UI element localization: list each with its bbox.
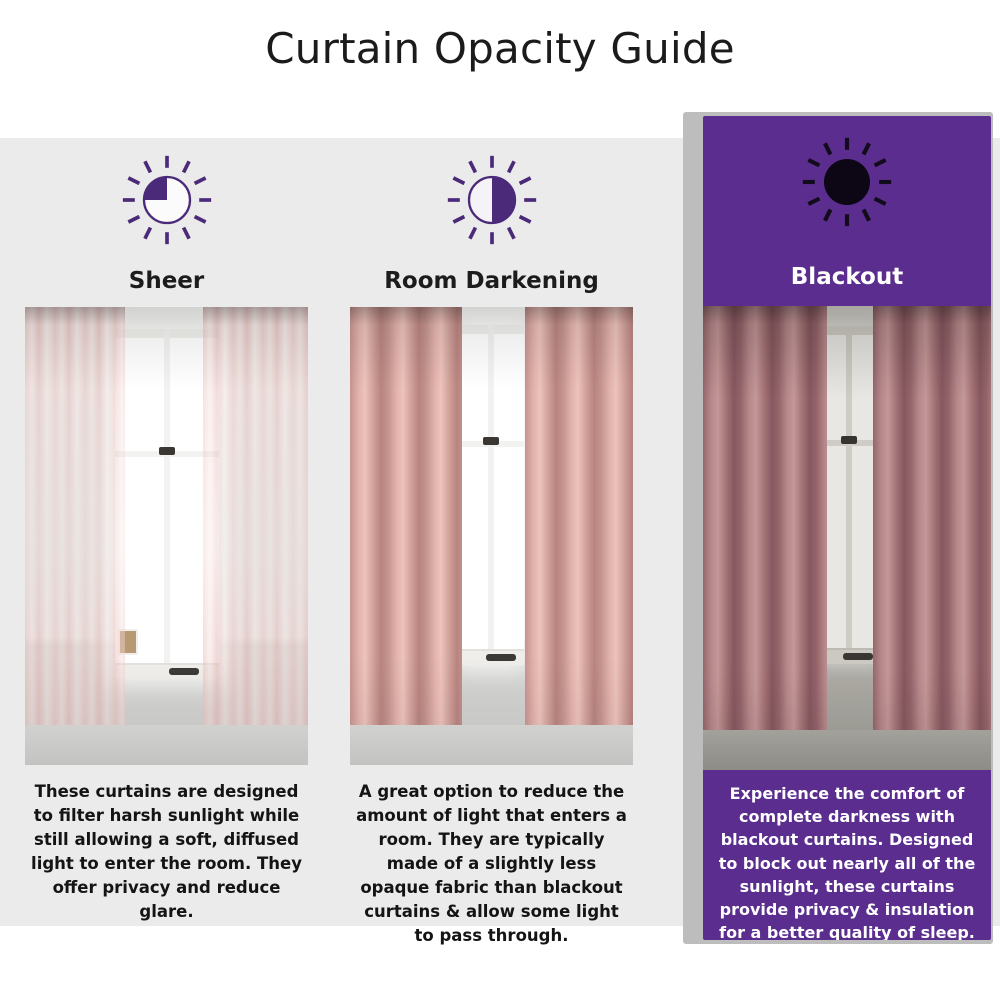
column-description-sheer: These curtains are designed to filter ha…	[31, 780, 302, 924]
column-heading-blackout: Blackout	[703, 264, 991, 290]
sun-quarter-filled-icon	[25, 152, 308, 248]
column-heading-room-darkening: Room Darkening	[350, 268, 633, 294]
column-sheer[interactable]: Sheer	[25, 138, 308, 926]
column-room-darkening[interactable]: Room Darkening	[350, 138, 633, 926]
column-description-room-darkening: A great option to reduce the amount of l…	[356, 780, 627, 947]
curtain-opacity-guide-page: Curtain Opacity Guide	[0, 0, 1000, 1000]
sun-half-filled-icon	[350, 152, 633, 248]
column-description-blackout: Experience the comfort of complete darkn…	[713, 782, 981, 940]
page-title: Curtain Opacity Guide	[0, 24, 1000, 73]
photo-sheer	[25, 307, 308, 765]
column-heading-sheer: Sheer	[25, 268, 308, 294]
photo-blackout	[703, 306, 991, 770]
column-blackout[interactable]: Blackout	[703, 116, 991, 940]
sun-fully-filled-icon	[703, 134, 991, 230]
photo-room-darkening	[350, 307, 633, 765]
